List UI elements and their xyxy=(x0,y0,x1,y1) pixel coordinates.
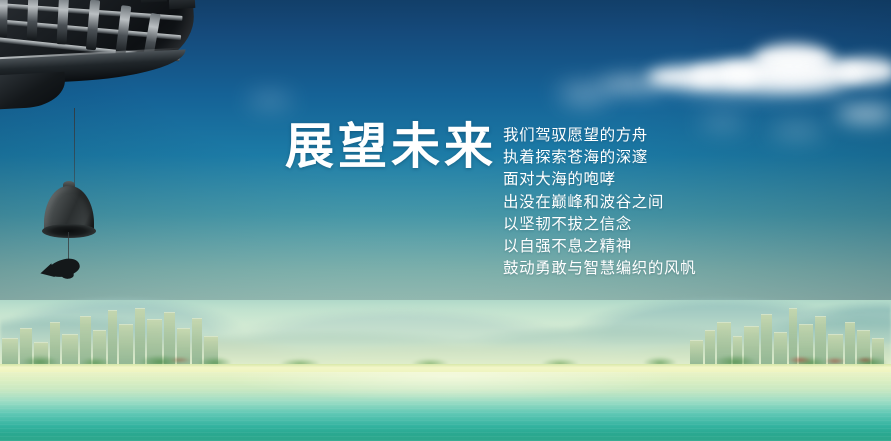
poem-line: 执着探索苍海的深邃 xyxy=(503,146,733,168)
traditional-chinese-roof-eave xyxy=(0,0,203,113)
roof-corner-block xyxy=(0,72,66,110)
poem-block: 我们驾驭愿望的方舟 执着探索苍海的深邃 面对大海的咆哮 出没在巅峰和波谷之间 以… xyxy=(503,124,733,279)
poem-line: 以自强不息之精神 xyxy=(503,235,733,257)
roof-rafter xyxy=(0,0,8,37)
bell-mouth xyxy=(42,224,96,238)
water-sun-glow xyxy=(0,372,891,412)
poem-line: 以坚韧不拔之信念 xyxy=(503,213,733,235)
roof-tile xyxy=(168,0,195,9)
roof-rafter xyxy=(27,0,39,40)
poem-line: 出没在巅峰和波谷之间 xyxy=(503,191,733,213)
poem-line: 面对大海的咆哮 xyxy=(503,168,733,190)
hero-banner: 展望未来 我们驾驭愿望的方舟 执着探索苍海的深邃 面对大海的咆哮 出没在巅峰和波… xyxy=(0,0,891,441)
poem-line: 我们驾驭愿望的方舟 xyxy=(503,124,733,146)
page-title: 展望未来 xyxy=(285,122,497,171)
poem-line: 鼓动勇敢与智慧编织的风帆 xyxy=(503,257,733,279)
bell-string xyxy=(74,108,75,190)
